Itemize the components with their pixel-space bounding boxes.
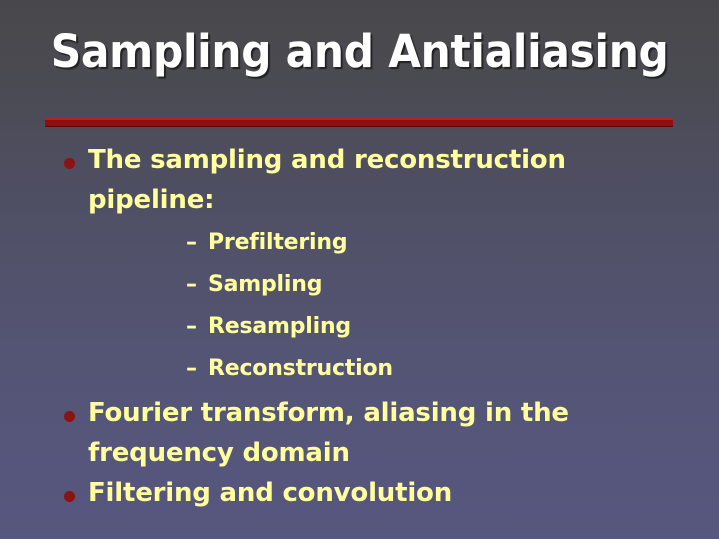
list-item: The sampling and reconstruction pipeline… xyxy=(0,140,719,390)
bullet-text: Prefiltering xyxy=(208,230,347,255)
bullet-text: Resampling xyxy=(208,314,351,339)
dash-bullet-icon: – xyxy=(186,222,197,264)
bullet-text: Fourier transform, aliasing in the frequ… xyxy=(88,398,569,468)
round-bullet-icon xyxy=(64,491,75,502)
bullet-text: Filtering and convolution xyxy=(88,478,452,508)
title-divider-rule xyxy=(45,118,673,127)
dash-bullet-icon: – xyxy=(186,348,197,390)
round-bullet-icon xyxy=(64,158,75,169)
list-item: – Prefiltering xyxy=(88,222,689,264)
bullet-text: Sampling xyxy=(208,272,322,297)
list-item: Fourier transform, aliasing in the frequ… xyxy=(0,393,719,473)
bullet-text: Reconstruction xyxy=(208,356,393,381)
bullet-list: The sampling and reconstruction pipeline… xyxy=(0,140,719,513)
page-title: Sampling and Antialiasing xyxy=(51,26,669,78)
round-bullet-icon xyxy=(64,411,75,422)
list-item: – Reconstruction xyxy=(88,348,689,390)
body-placeholder: The sampling and reconstruction pipeline… xyxy=(0,140,719,513)
sub-bullet-list: – Prefiltering – Sampling – Resampling –… xyxy=(88,222,689,390)
title-placeholder: Sampling and Antialiasing xyxy=(0,26,719,78)
dash-bullet-icon: – xyxy=(186,264,197,306)
list-item: – Resampling xyxy=(88,306,689,348)
bullet-text: The sampling and reconstruction pipeline… xyxy=(88,145,566,215)
list-item: – Sampling xyxy=(88,264,689,306)
list-item: Filtering and convolution xyxy=(0,473,719,513)
presentation-slide: Sampling and Antialiasing The sampling a… xyxy=(0,0,719,539)
dash-bullet-icon: – xyxy=(186,306,197,348)
